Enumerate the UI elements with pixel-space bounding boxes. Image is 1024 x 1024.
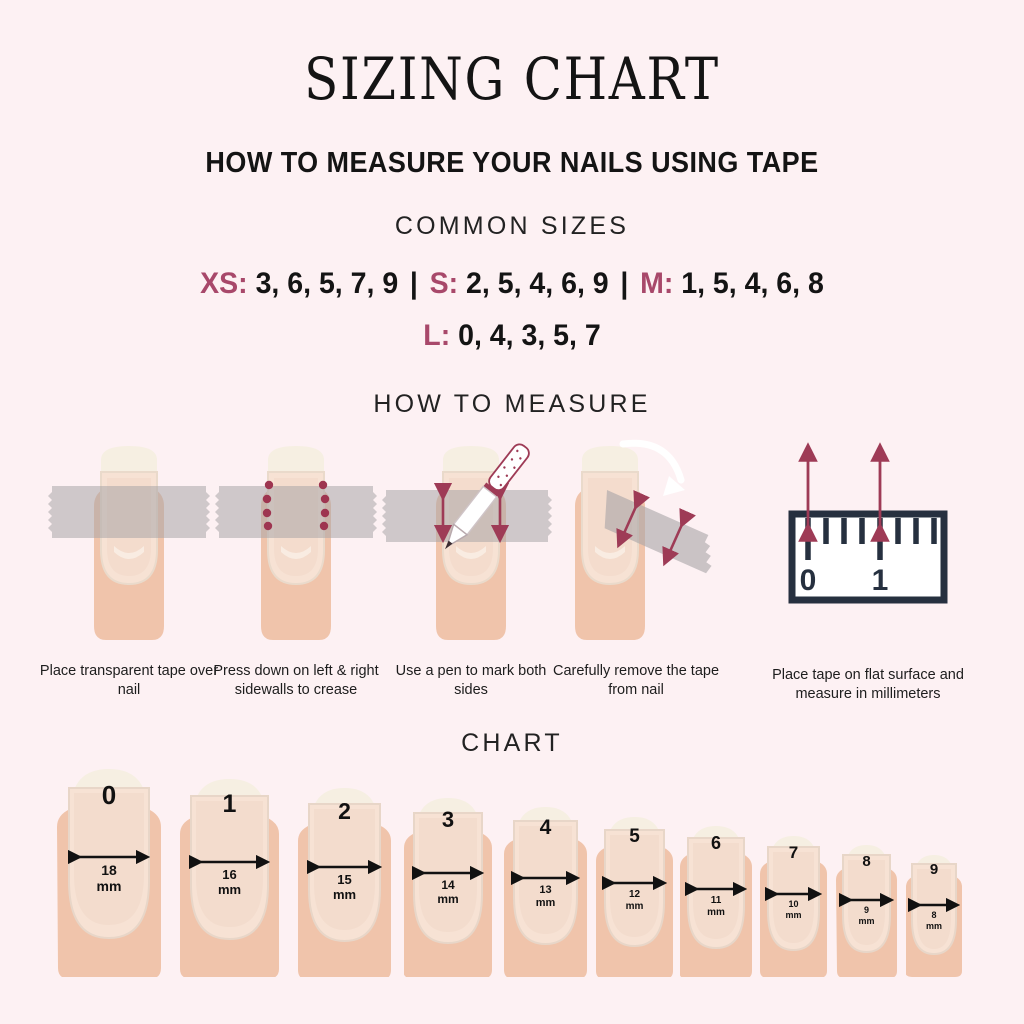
nail-size-4[interactable]: 413mm xyxy=(504,801,587,977)
step-3-caption: Use a pen to mark both sides xyxy=(380,662,562,700)
step-4: Carefully remove the tape from nail xyxy=(545,428,727,718)
step-5-illustration: 0 1 xyxy=(748,428,988,656)
page-title: SIZING CHART xyxy=(72,48,953,110)
size-separator-1: | xyxy=(406,267,422,300)
nail-width-unit: mm xyxy=(536,897,556,909)
nail-size-6[interactable]: 611mm xyxy=(680,820,752,977)
size-key-s: S: xyxy=(430,267,459,300)
nail-size-chart: 018mm116mm215mm314mm413mm512mm611mm710mm… xyxy=(0,752,1024,977)
nail-width-value: 12 xyxy=(629,889,641,900)
nail-size-7[interactable]: 710mm xyxy=(760,830,827,977)
size-separator-2: | xyxy=(617,267,633,300)
nail-width-value: 9 xyxy=(864,905,869,915)
nail-size-9[interactable]: 98mm xyxy=(906,849,962,977)
nail-width-value: 18 xyxy=(101,862,117,878)
nail-width-value: 13 xyxy=(539,884,551,896)
step-3: Use a pen to mark both sides xyxy=(380,428,562,718)
nail-size-number: 3 xyxy=(442,807,454,832)
common-sizes-line-2: L: 0, 4, 3, 5, 7 xyxy=(26,318,999,354)
nail-width-value: 11 xyxy=(711,895,722,906)
nail-size-3[interactable]: 314mm xyxy=(404,792,492,977)
nail-size-number: 8 xyxy=(862,853,870,870)
nail-width-unit: mm xyxy=(785,910,801,920)
step-4-caption: Carefully remove the tape from nail xyxy=(545,662,727,700)
nail-width-value: 16 xyxy=(222,867,236,882)
nail-width-unit: mm xyxy=(707,907,725,918)
nail-size-number: 9 xyxy=(930,861,938,878)
nail-size-number: 0 xyxy=(102,780,116,810)
step-5: 0 1 Place tape on flat surface and measu… xyxy=(748,428,988,718)
nail-size-number: 5 xyxy=(629,826,640,847)
nail-width-unit: mm xyxy=(437,892,458,906)
tape-strip xyxy=(48,486,210,538)
page-subtitle: HOW TO MEASURE YOUR NAILS USING TAPE xyxy=(36,146,988,180)
step-2: Press down on left & right sidewalls to … xyxy=(205,428,387,718)
nail-size-number: 7 xyxy=(789,843,798,862)
nail-width-value: 15 xyxy=(337,872,351,887)
step-2-caption: Press down on left & right sidewalls to … xyxy=(205,662,387,700)
step-4-illustration xyxy=(545,428,727,656)
nail-size-0[interactable]: 018mm xyxy=(57,763,161,977)
nail-width-unit: mm xyxy=(333,887,356,902)
nail-size-number: 4 xyxy=(540,816,552,839)
nail-size-number: 2 xyxy=(338,798,351,824)
ruler-label-0: 0 xyxy=(800,564,817,597)
section-label-how-to-measure: HOW TO MEASURE xyxy=(0,389,1024,419)
nail-width-unit: mm xyxy=(218,882,241,897)
common-sizes-line-1: XS: 3, 6, 5, 7, 9 | S: 2, 5, 4, 6, 9 | M… xyxy=(26,266,999,302)
section-label-common-sizes: COMMON SIZES xyxy=(0,211,1024,241)
nail-width-value: 8 xyxy=(931,910,936,920)
step-2-illustration xyxy=(205,428,387,656)
step-3-illustration xyxy=(380,428,562,656)
size-key-m: M: xyxy=(640,267,673,300)
nail-width-value: 14 xyxy=(441,878,455,892)
nail-size-number: 6 xyxy=(711,833,721,853)
ruler-label-1: 1 xyxy=(872,564,889,597)
size-values-l: 0, 4, 3, 5, 7 xyxy=(458,319,601,352)
size-key-l: L: xyxy=(423,319,450,352)
nail-width-value: 10 xyxy=(788,899,798,909)
nail-size-2[interactable]: 215mm xyxy=(298,782,391,977)
nail-size-5[interactable]: 512mm xyxy=(596,811,673,977)
nail-size-1[interactable]: 116mm xyxy=(180,773,279,977)
nail-width-unit: mm xyxy=(858,916,874,926)
size-values-s: 2, 5, 4, 6, 9 xyxy=(466,267,609,300)
step-1-illustration xyxy=(38,428,220,656)
size-values-m: 1, 5, 4, 6, 8 xyxy=(681,267,824,300)
nail-width-unit: mm xyxy=(926,921,942,931)
nail-width-unit: mm xyxy=(97,878,122,894)
nail-width-unit: mm xyxy=(626,901,644,912)
nail-size-number: 1 xyxy=(223,790,237,818)
size-values-xs: 3, 6, 5, 7, 9 xyxy=(256,267,399,300)
size-key-xs: XS: xyxy=(200,267,248,300)
nail-size-8[interactable]: 89mm xyxy=(836,839,897,977)
how-to-measure-steps: Place transparent tape over nail xyxy=(0,428,1024,718)
step-5-caption: Place tape on flat surface and measure i… xyxy=(748,666,988,704)
step-1: Place transparent tape over nail xyxy=(38,428,220,718)
step-1-caption: Place transparent tape over nail xyxy=(38,662,220,700)
